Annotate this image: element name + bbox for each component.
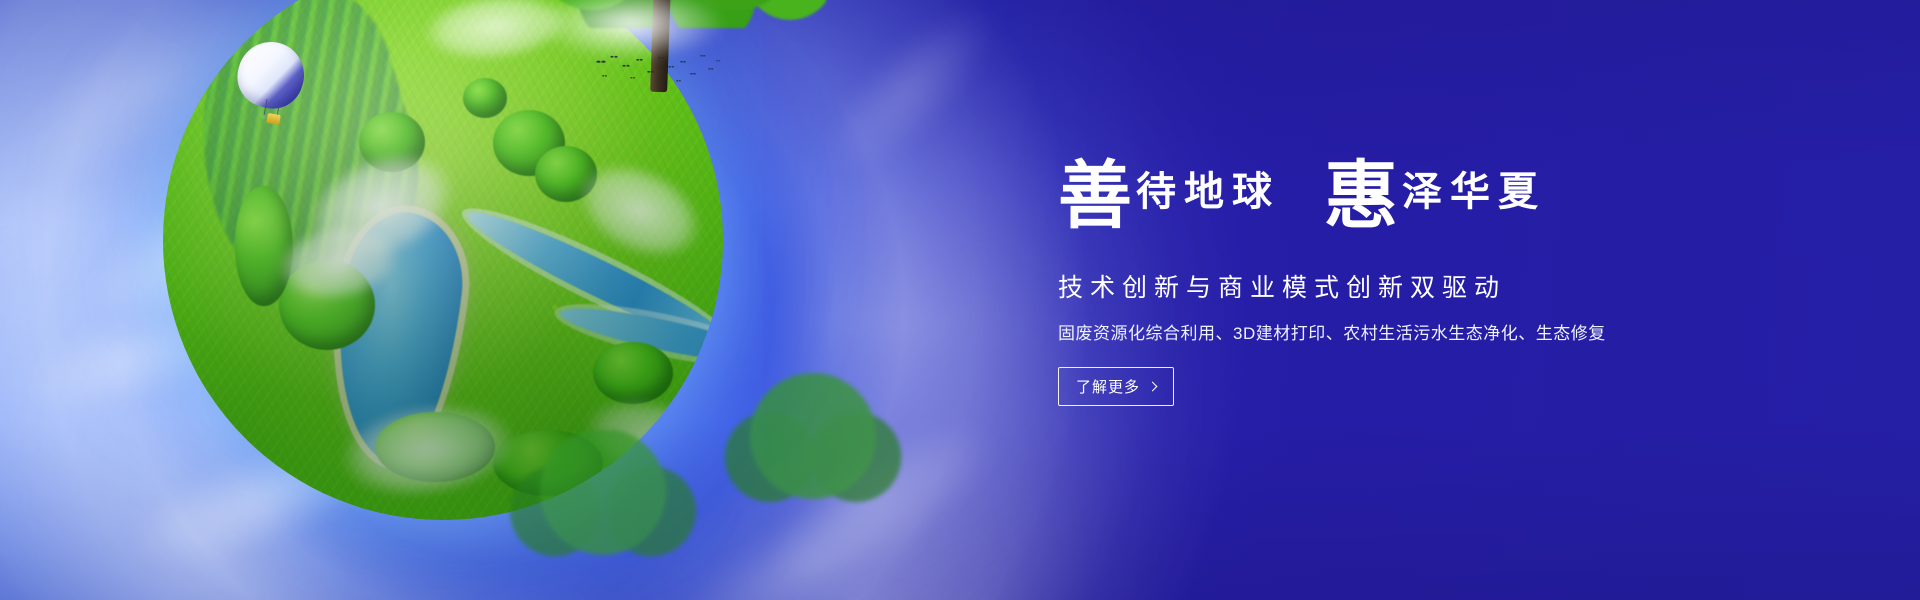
hot-air-balloon-icon <box>238 42 314 126</box>
learn-more-button[interactable]: 了解更多 <box>1058 367 1174 406</box>
headline-rest-2: 泽华夏 <box>1402 172 1546 212</box>
chevron-right-icon <box>1148 382 1158 392</box>
tree-icon <box>723 370 903 520</box>
headline-lead-1: 善 <box>1058 160 1132 234</box>
learn-more-label: 了解更多 <box>1076 376 1140 397</box>
headline-lead-2: 惠 <box>1324 160 1398 234</box>
tree-icon <box>503 430 703 570</box>
headline-rest-1: 待地球 <box>1136 172 1280 212</box>
hero-content: 善待地球惠泽华夏 技术创新与商业模式创新双驱动 固废资源化综合利用、3D建材打印… <box>1058 150 1678 406</box>
balloon-basket <box>266 113 281 125</box>
page-title: 善待地球惠泽华夏 <box>1058 150 1678 268</box>
hero-banner: 善待地球惠泽华夏 技术创新与商业模式创新双驱动 固废资源化综合利用、3D建材打印… <box>0 0 1920 600</box>
hero-description: 固废资源化综合利用、3D建材打印、农村生活污水生态净化、生态修复 <box>1058 322 1678 346</box>
bird-flock-icon <box>592 52 722 88</box>
hero-subtitle: 技术创新与商业模式创新双驱动 <box>1058 272 1678 305</box>
